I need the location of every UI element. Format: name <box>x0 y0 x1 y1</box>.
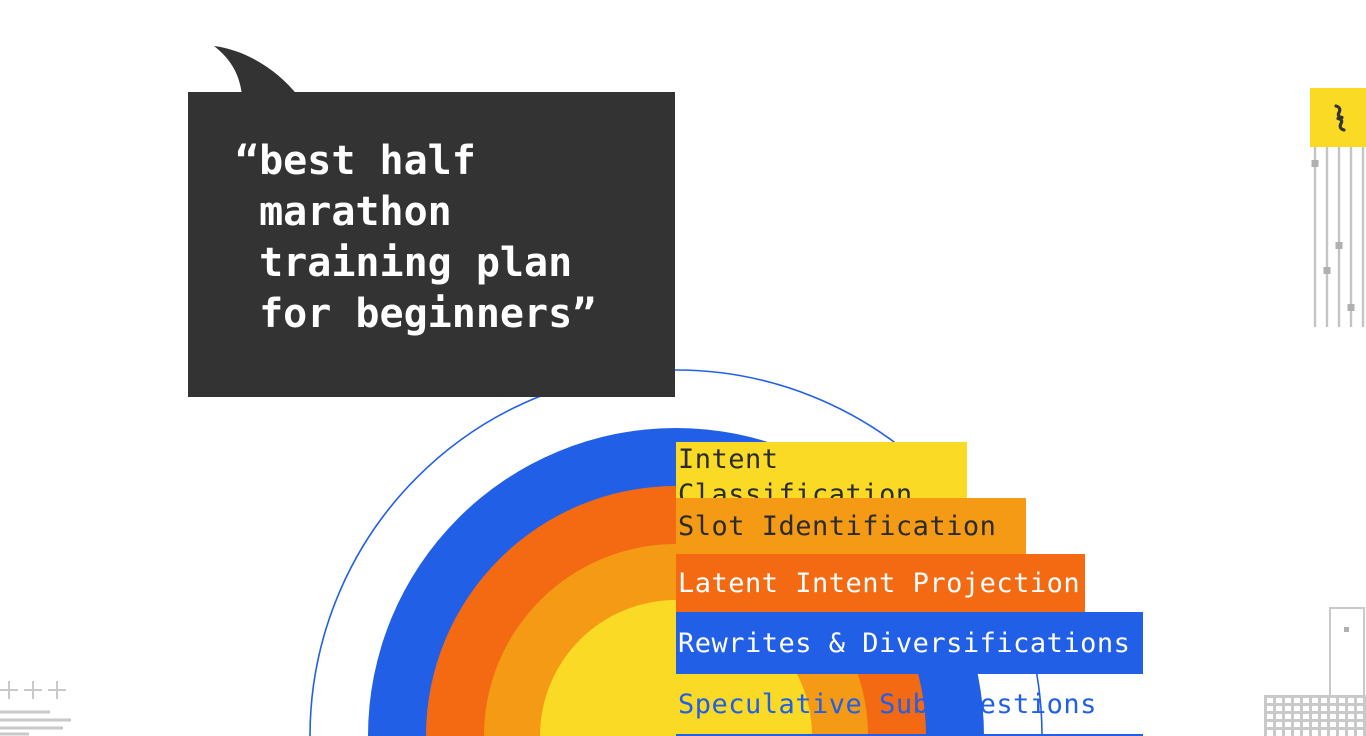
plus-marks <box>0 681 66 699</box>
tower-outline <box>1330 608 1364 696</box>
decoration-bottom-left <box>0 668 200 736</box>
speech-bubble-tail <box>206 44 306 98</box>
label-bar-slot-identification[interactable]: Slot Identification <box>676 498 1026 554</box>
hatch-lines <box>0 712 71 734</box>
label-bar-speculative-sub-questions[interactable]: Speculative Sub-Questions <box>676 674 1143 734</box>
label-rewrites-diversifications: Rewrites & Diversifications <box>676 628 1130 659</box>
quote-line-4: for beginners” <box>235 291 596 337</box>
speech-bubble-text: “best half marathon training plan for be… <box>235 136 665 340</box>
quote-line-2: marathon <box>235 189 452 235</box>
code-braces-icon <box>1322 100 1358 136</box>
label-slot-identification: Slot Identification <box>676 511 996 542</box>
tower-dot <box>1344 627 1349 632</box>
label-bar-rewrites-diversifications[interactable]: Rewrites & Diversifications <box>676 612 1143 674</box>
label-bar-latent-intent-projection[interactable]: Latent Intent Projection <box>676 554 1085 612</box>
quote-line-1: “best half <box>235 138 476 184</box>
label-speculative-sub-questions: Speculative Sub-Questions <box>676 689 1097 720</box>
label-latent-intent-projection: Latent Intent Projection <box>676 568 1080 599</box>
decoration-grid-tower <box>1264 607 1366 736</box>
quote-line-3: training plan <box>235 240 572 286</box>
slide-canvas: “best half marathon training plan for be… <box>0 0 1366 736</box>
label-bar-intent-classification[interactable]: IntentClassification <box>676 442 967 498</box>
yellow-code-card <box>1310 88 1366 147</box>
vertical-circuit-lines <box>1300 147 1366 327</box>
